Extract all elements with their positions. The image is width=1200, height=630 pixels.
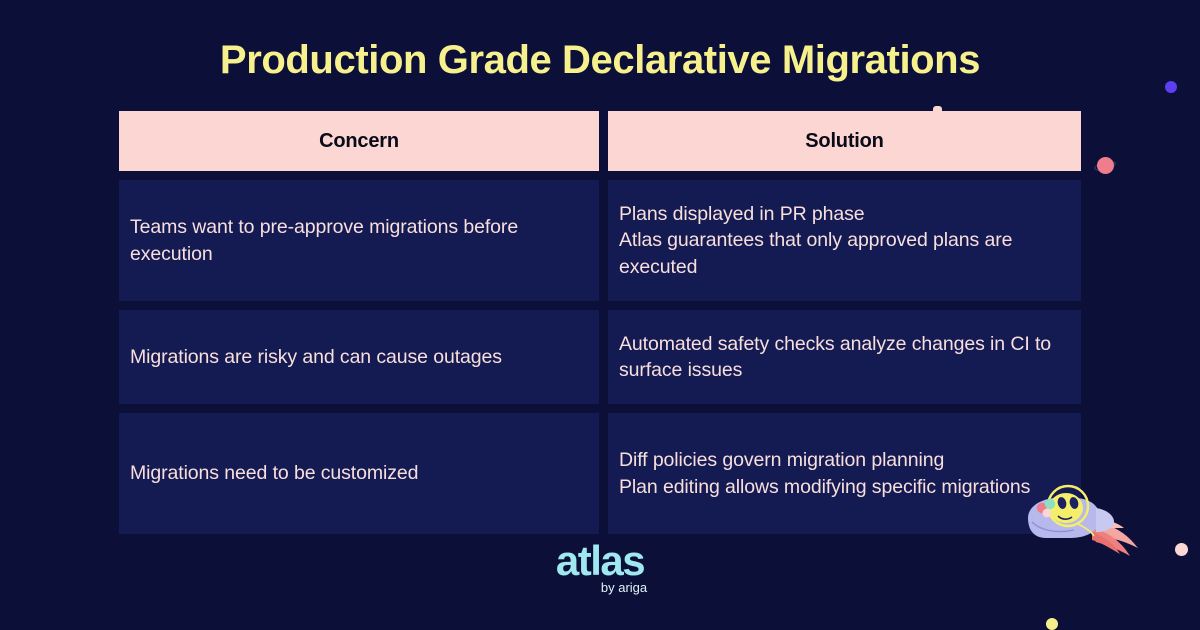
table-row: Migrations are risky and can cause outag… bbox=[119, 310, 1081, 404]
comparison-table: Concern Solution Teams want to pre-appro… bbox=[119, 111, 1081, 543]
column-header-label-solution: Solution bbox=[805, 130, 883, 153]
concern-text: Migrations need to be customized bbox=[130, 460, 418, 487]
table-cell-solution: Automated safety checks analyze changes … bbox=[608, 310, 1081, 404]
table-cell-solution: Plans displayed in PR phase Atlas guaran… bbox=[608, 180, 1081, 301]
table-cell-solution: Diff policies govern migration planning … bbox=[608, 413, 1081, 534]
yellow-dot-decoration bbox=[1046, 618, 1058, 630]
table-row: Migrations need to be customized Diff po… bbox=[119, 413, 1081, 534]
solution-text: Plans displayed in PR phase Atlas guaran… bbox=[619, 201, 1070, 281]
logo-wordmark: atlas bbox=[0, 540, 1200, 582]
concern-text: Migrations are risky and can cause outag… bbox=[130, 344, 502, 371]
planet-ring bbox=[1093, 159, 1116, 172]
planet-body bbox=[1097, 157, 1114, 174]
atlas-logo: atlas by ariga bbox=[0, 540, 1200, 595]
solution-text: Diff policies govern migration planning … bbox=[619, 447, 1030, 500]
table-header-cell-concern: Concern bbox=[119, 111, 599, 171]
table-header-cell-solution: Solution bbox=[608, 111, 1081, 171]
solution-text: Automated safety checks analyze changes … bbox=[619, 331, 1070, 384]
table-cell-concern: Migrations are risky and can cause outag… bbox=[119, 310, 599, 404]
table-header-row: Concern Solution bbox=[119, 111, 1081, 171]
page-title: Production Grade Declarative Migrations bbox=[0, 38, 1200, 83]
table-cell-concern: Migrations need to be customized bbox=[119, 413, 599, 534]
table-row: Teams want to pre-approve migrations bef… bbox=[119, 180, 1081, 301]
logo-subtitle: by ariga bbox=[0, 580, 1200, 595]
table-cell-concern: Teams want to pre-approve migrations bef… bbox=[119, 180, 599, 301]
column-header-label-concern: Concern bbox=[319, 130, 399, 153]
concern-text: Teams want to pre-approve migrations bef… bbox=[130, 214, 588, 267]
pink-planet-icon bbox=[1094, 155, 1116, 177]
